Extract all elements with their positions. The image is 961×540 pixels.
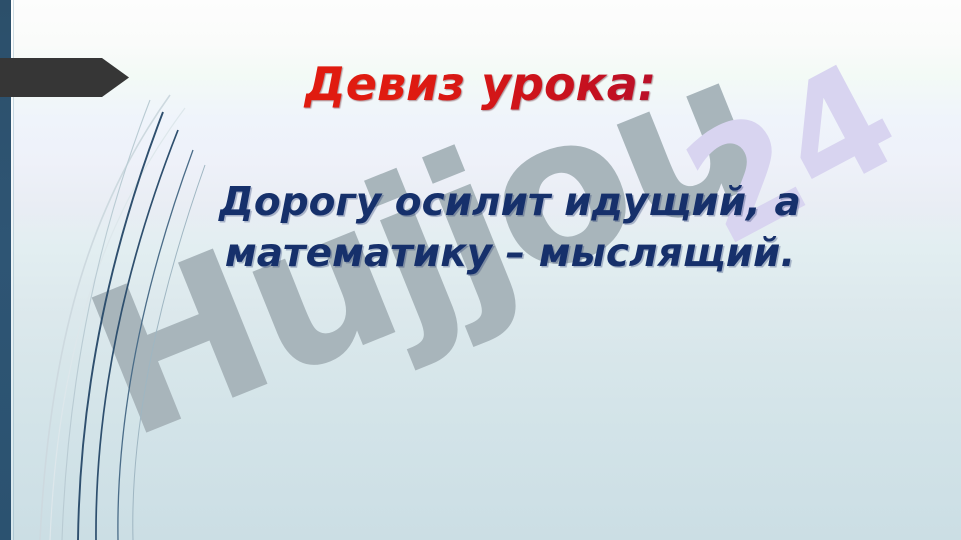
slide-body-text: Дорогу осилит идущий, а математику – мыс… <box>150 178 870 279</box>
body-line-1: Дорогу осилит идущий, а <box>150 178 870 229</box>
slide-content: Девиз урока: Дорогу осилит идущий, а мат… <box>0 0 961 540</box>
slide-title: Девиз урока: <box>0 58 961 111</box>
presentation-slide: Нujjou 24 Девиз урока: Дорогу осилит иду… <box>0 0 961 540</box>
body-line-2: математику – мыслящий. <box>150 229 870 280</box>
